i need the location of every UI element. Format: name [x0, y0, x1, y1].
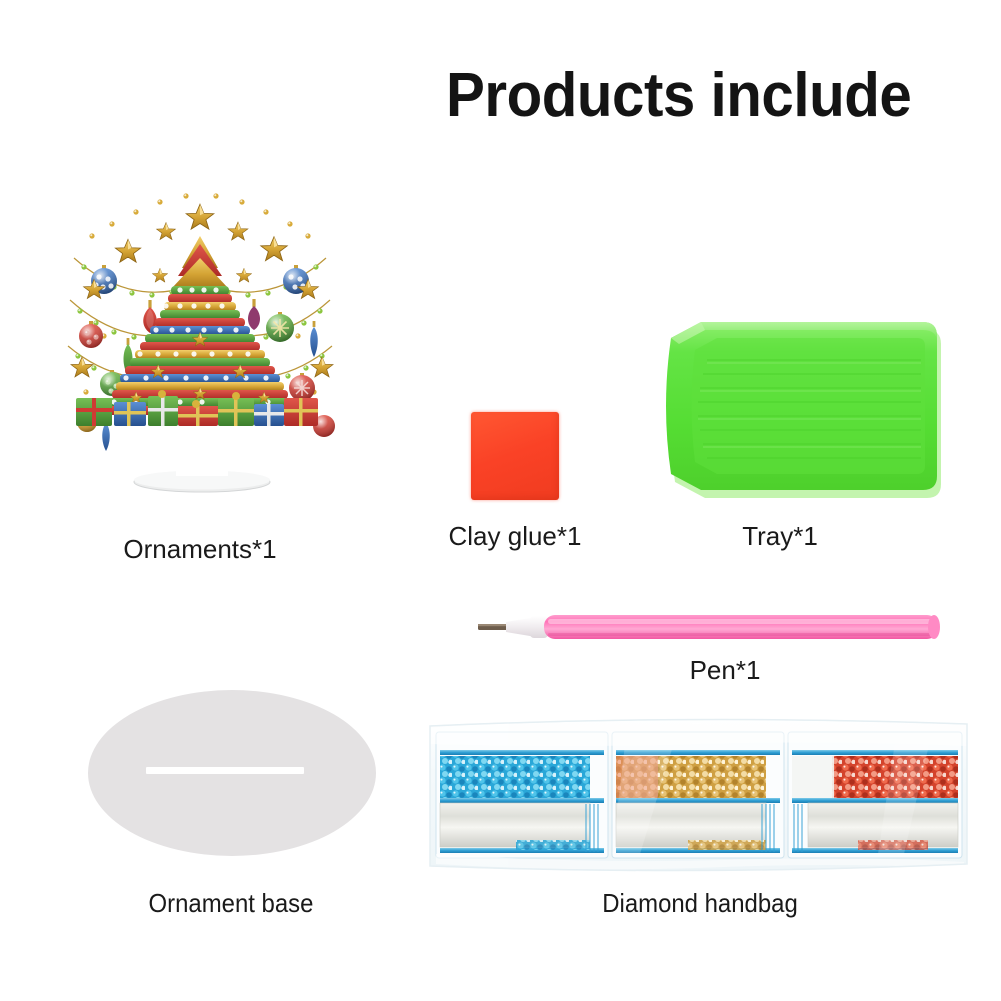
christmas-tree-diamond-art-icon: [40, 140, 360, 470]
caption-pen: Pen*1: [605, 655, 845, 686]
caption-clay-glue: Clay glue*1: [375, 521, 655, 552]
ornament-stand-icon: [132, 470, 272, 494]
ornament-base-icon: [88, 690, 376, 856]
caption-diamond-handbag: Diamond handbag: [475, 888, 926, 919]
clay-glue-icon: [471, 412, 559, 500]
caption-ornament-base: Ornament base: [70, 888, 392, 919]
ornament-base-slot: [146, 767, 304, 774]
tray-icon: [655, 316, 945, 504]
diamond-handbag-icon: [426, 712, 971, 878]
caption-ornaments: Ornaments*1: [40, 534, 360, 565]
caption-tray: Tray*1: [660, 521, 900, 552]
product-item-ornaments: [40, 140, 360, 515]
page-title: Products include: [446, 60, 958, 132]
product-include-poster: Products include: [0, 0, 1001, 1001]
pen-icon: [478, 608, 943, 646]
